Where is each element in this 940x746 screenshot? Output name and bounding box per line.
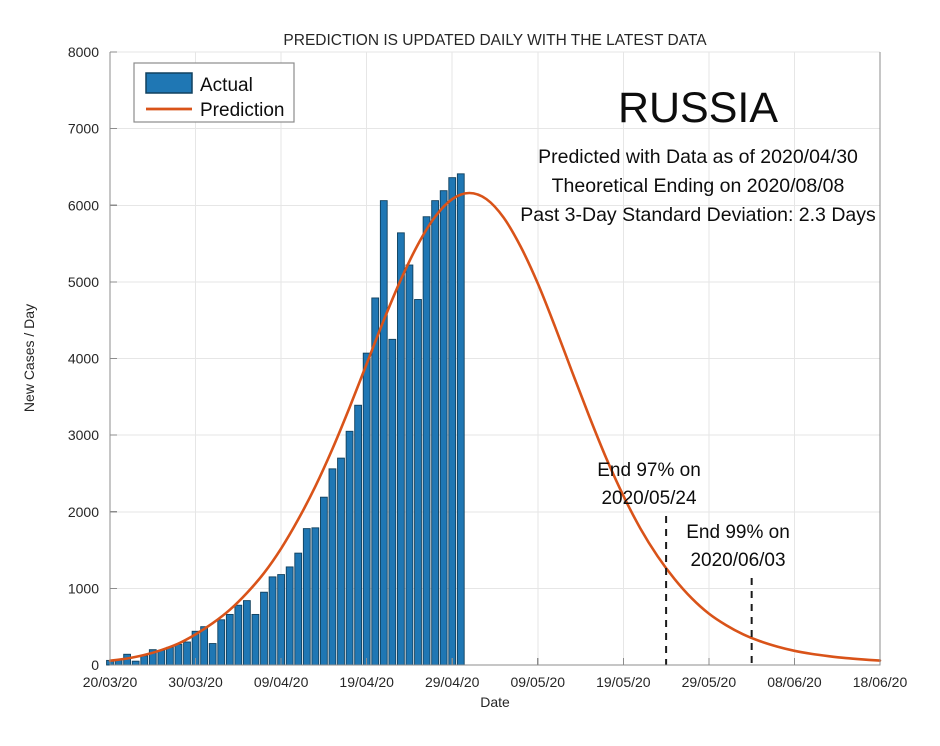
- x-tick-label: 29/05/20: [682, 674, 737, 690]
- country-title: RUSSIA: [618, 84, 778, 132]
- bar: [432, 201, 439, 665]
- bar: [440, 191, 447, 665]
- bar: [235, 605, 242, 665]
- bar: [415, 300, 422, 666]
- bar: [158, 650, 165, 665]
- x-tick-label: 18/06/20: [853, 674, 908, 690]
- bar: [346, 431, 353, 665]
- y-tick-label: 0: [91, 657, 99, 673]
- bar: [303, 529, 310, 665]
- bar: [209, 644, 216, 665]
- bar: [355, 405, 362, 665]
- y-tick-label: 7000: [68, 121, 99, 137]
- bar: [363, 353, 370, 665]
- bar: [457, 174, 464, 665]
- x-tick-label: 19/05/20: [596, 674, 651, 690]
- bar: [132, 661, 139, 665]
- bar: [261, 592, 268, 665]
- bar: [320, 497, 327, 665]
- y-tick-label: 2000: [68, 504, 99, 520]
- bar: [372, 298, 379, 665]
- chart-canvas: 010002000300040005000600070008000 20/03/…: [0, 0, 940, 746]
- bar: [389, 339, 396, 665]
- bar: [201, 627, 208, 665]
- bar: [329, 469, 336, 665]
- x-tick-label: 20/03/20: [83, 674, 138, 690]
- annotation-predicted-date: Predicted with Data as of 2020/04/30: [538, 146, 858, 168]
- y-tick-label: 5000: [68, 274, 99, 290]
- bar: [278, 575, 285, 665]
- bar: [397, 233, 404, 665]
- bar: [380, 201, 387, 665]
- bar: [295, 553, 302, 665]
- bar: [243, 601, 250, 665]
- bar: [312, 528, 319, 665]
- x-tick-label: 08/06/20: [767, 674, 822, 690]
- y-tick-label: 3000: [68, 427, 99, 443]
- x-tick-label: 19/04/20: [339, 674, 394, 690]
- bar: [449, 178, 456, 665]
- bar: [269, 577, 276, 665]
- legend-label-prediction: Prediction: [200, 100, 285, 121]
- chart-title: PREDICTION IS UPDATED DAILY WITH THE LAT…: [283, 32, 707, 49]
- y-tick-label: 4000: [68, 351, 99, 367]
- annotation-standard-deviation: Past 3-Day Standard Deviation: 2.3 Days: [520, 204, 876, 226]
- bar: [184, 642, 191, 665]
- bar: [252, 614, 259, 665]
- end-99-label-line2: 2020/06/03: [690, 550, 785, 571]
- bar: [423, 217, 430, 665]
- legend-swatch-actual: [146, 73, 192, 93]
- bar: [338, 458, 345, 665]
- y-tick-label: 6000: [68, 197, 99, 213]
- annotation-theoretical-ending: Theoretical Ending on 2020/08/08: [552, 175, 845, 197]
- x-axis-label: Date: [480, 694, 510, 710]
- x-tick-label: 09/04/20: [254, 674, 309, 690]
- y-axis-label: New Cases / Day: [21, 304, 37, 412]
- end-99-label-line1: End 99% on: [686, 522, 790, 543]
- bar: [218, 620, 225, 665]
- legend-label-actual: Actual: [200, 75, 253, 96]
- x-tick-label: 09/05/20: [511, 674, 566, 690]
- y-tick-label: 8000: [68, 44, 99, 60]
- end-97-label-line2: 2020/05/24: [601, 488, 697, 509]
- chart-legend[interactable]: Actual Prediction: [134, 63, 294, 122]
- bar: [166, 647, 173, 665]
- bar: [141, 656, 148, 665]
- chart-figure: 010002000300040005000600070008000 20/03/…: [0, 0, 940, 746]
- bar: [406, 265, 413, 665]
- bar: [286, 567, 293, 665]
- bar: [175, 644, 182, 665]
- x-tick-label: 30/03/20: [168, 674, 223, 690]
- bar: [226, 614, 233, 665]
- end-97-label-line1: End 97% on: [597, 460, 701, 481]
- x-tick-label: 29/04/20: [425, 674, 480, 690]
- y-tick-label: 1000: [68, 580, 99, 596]
